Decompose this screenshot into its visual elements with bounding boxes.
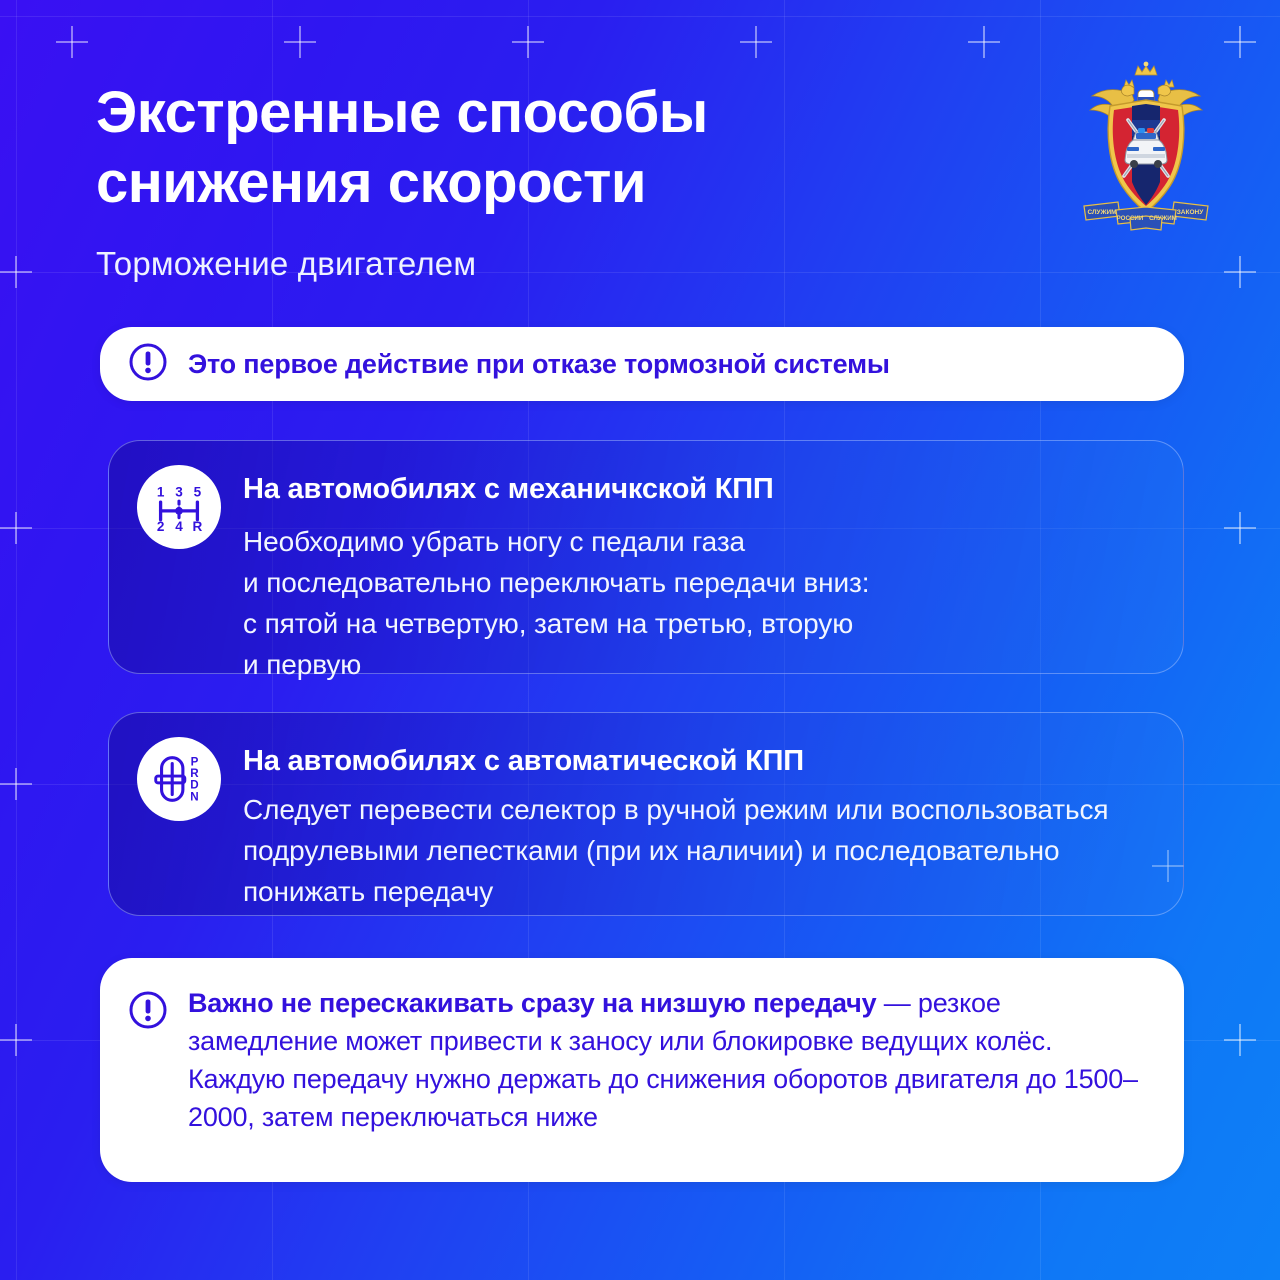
card-automatic-transmission: P R D N На автомобилях с автоматической … <box>108 712 1184 916</box>
selector-label-N: N <box>190 790 198 803</box>
manual-gearshift-icon: 1 3 5 2 4 R <box>137 465 221 549</box>
ribbon-text-1: СЛУЖИМ <box>1087 209 1116 216</box>
alert-card-top: Это первое действие при отказе тормозной… <box>100 327 1184 401</box>
gear-label-3: 3 <box>175 484 183 499</box>
infographic-poster: Экстренные способы снижения скорости Тор… <box>0 0 1280 1280</box>
gear-label-5: 5 <box>194 484 202 499</box>
alert-top-text: Это первое действие при отказе тормозной… <box>188 347 890 381</box>
page-title: Экстренные способы снижения скорости <box>96 78 1056 218</box>
card-manual-transmission: 1 3 5 2 4 R На автомобилях с <box>108 440 1184 674</box>
gear-label-1: 1 <box>157 484 165 499</box>
automatic-selector-icon: P R D N <box>137 737 221 821</box>
card-auto-heading: На автомобилях с автоматической КПП <box>243 743 1153 779</box>
alert-bottom-body: Важно не перескакивать сразу на низшую п… <box>188 984 1154 1136</box>
gear-label-R: R <box>193 519 203 534</box>
alert-bottom-lead: Важно не перескакивать сразу на низшую п… <box>188 988 876 1018</box>
exclamation-circle-icon <box>128 342 168 387</box>
card-manual-text: Необходимо убрать ногу с педали газа и п… <box>243 521 1153 685</box>
ribbon-text-2: РОССИИ <box>1117 215 1144 222</box>
police-shield-icon <box>1108 100 1184 212</box>
header: Экстренные способы снижения скорости Тор… <box>96 78 1056 284</box>
mvd-emblem: СЛУЖИМ ЗАКОНУ РОССИИ СЛУЖИМ <box>1070 60 1222 235</box>
ribbon-text-3: СЛУЖИМ <box>1149 215 1177 222</box>
card-auto-text: Следует перевести селектор в ручной режи… <box>243 789 1153 912</box>
ribbon-text-4: ЗАКОНУ <box>1177 209 1204 216</box>
alert-card-bottom: Важно не перескакивать сразу на низшую п… <box>100 958 1184 1182</box>
gear-label-4: 4 <box>175 519 183 534</box>
gear-label-2: 2 <box>157 519 165 534</box>
exclamation-circle-icon <box>128 990 168 1035</box>
card-manual-heading: На автомобилях с механичкской КПП <box>243 471 1153 507</box>
page-subtitle: Торможение двигателем <box>96 244 1056 284</box>
